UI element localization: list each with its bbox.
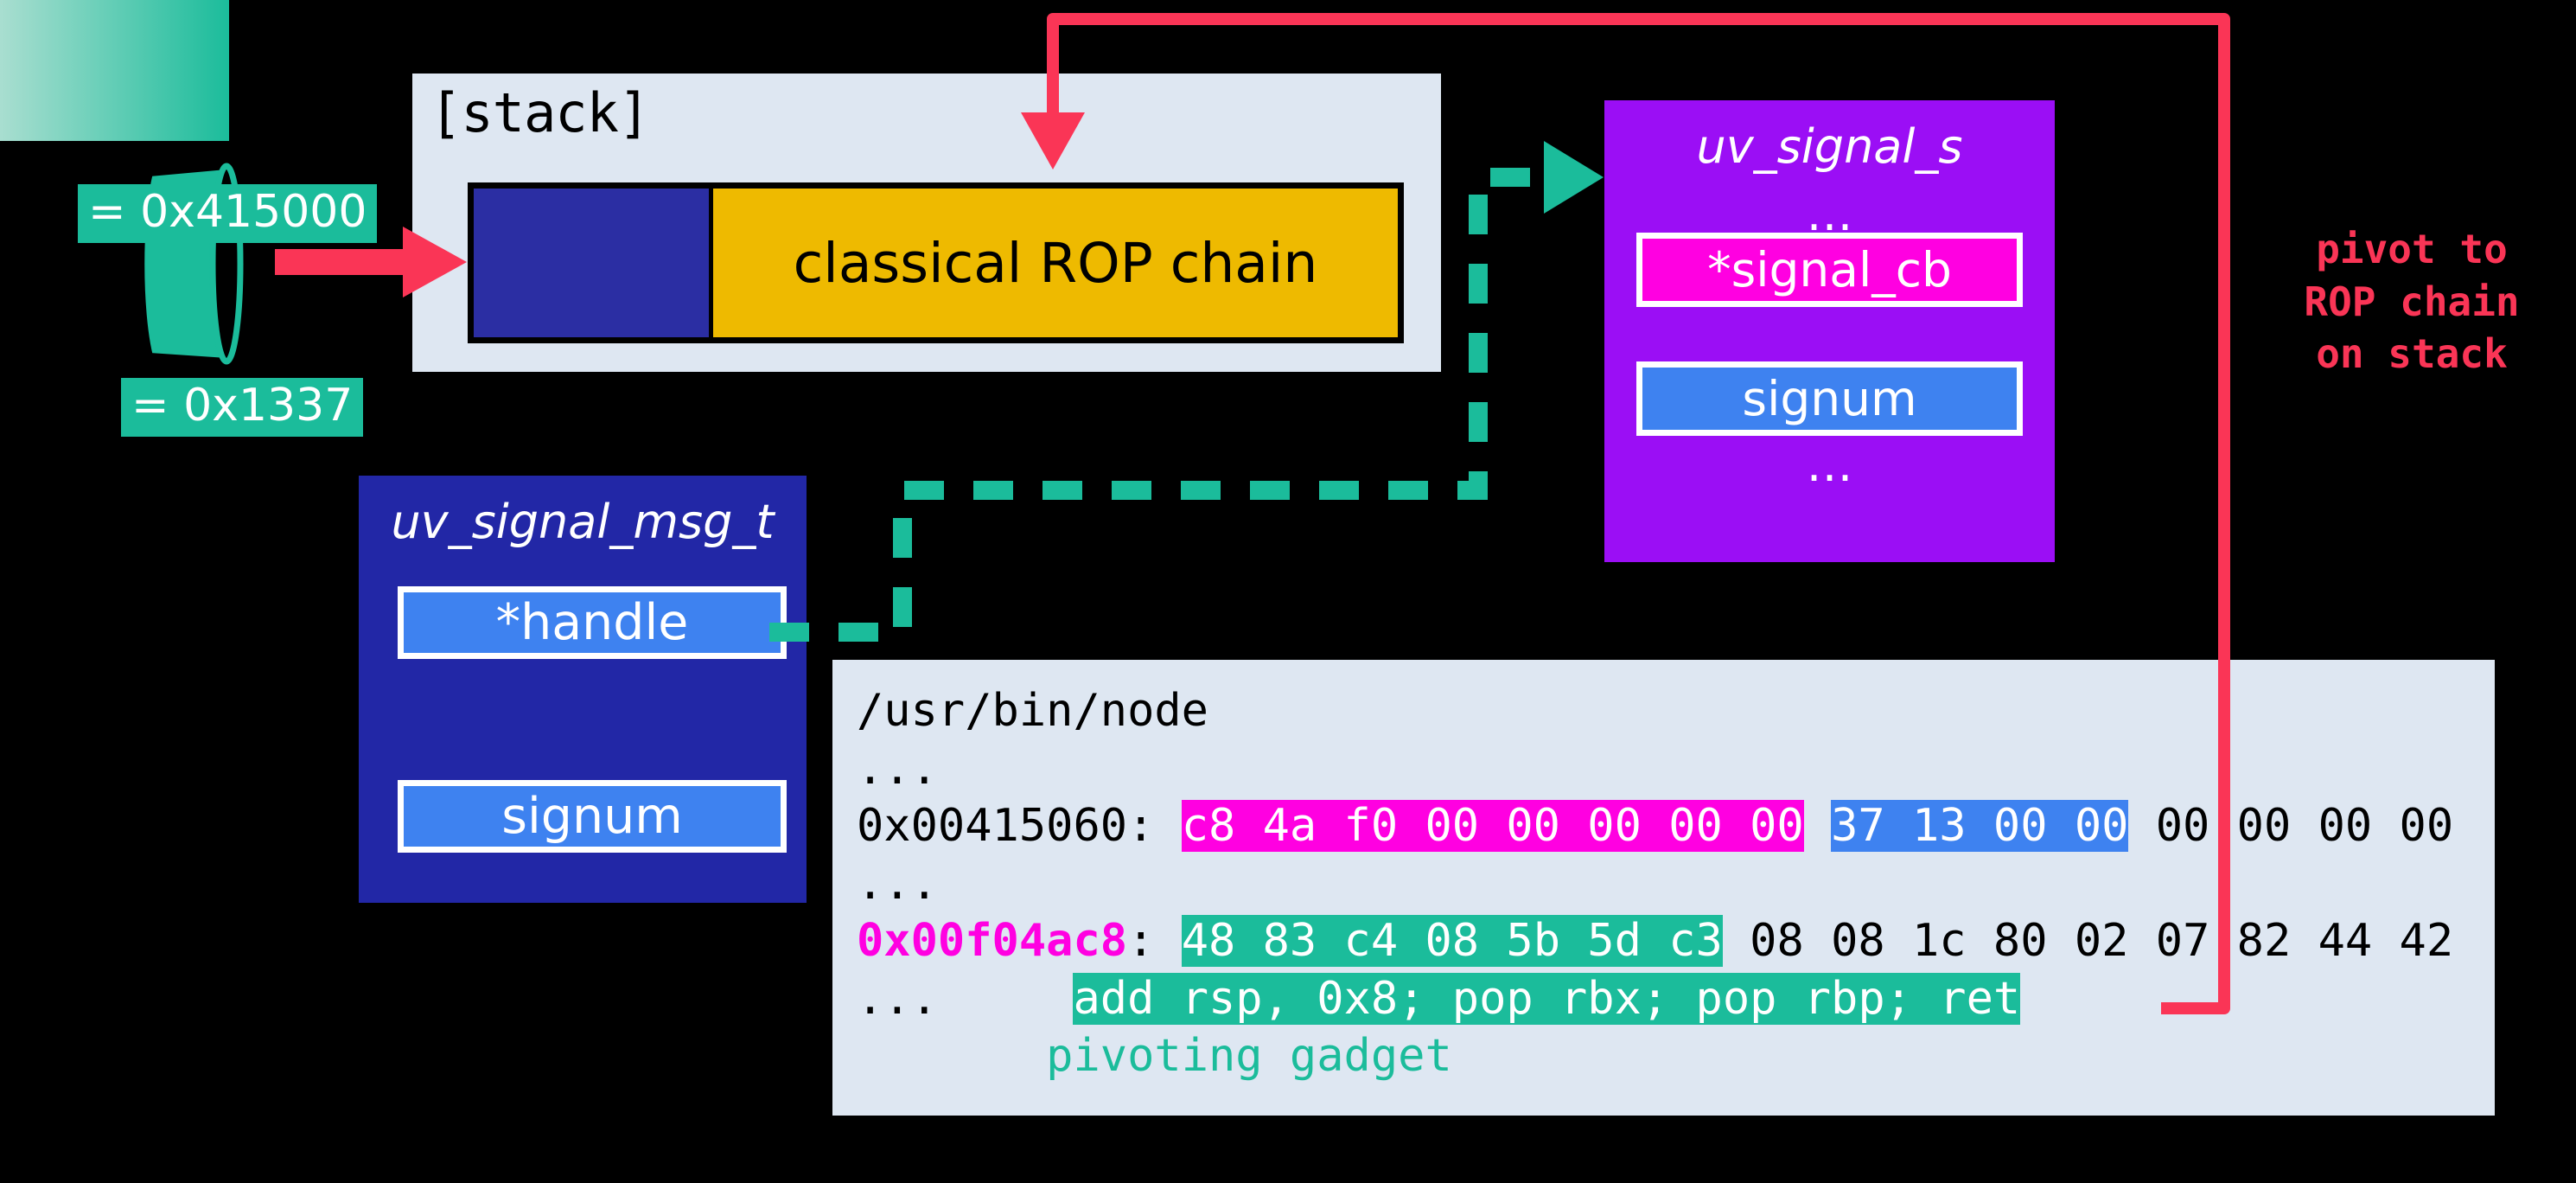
hexdump-ellipsis-1: ...: [857, 740, 2495, 798]
hexdump-panel: /usr/bin/node ... 0x00415060: c8 4a f0 0…: [832, 660, 2495, 1116]
stack-cells: classical ROP chain: [468, 182, 1404, 343]
hexdump-row-2-bytes-plain: 08 08 1c 80 02 07 82 44 42: [1750, 915, 2453, 967]
hexdump-ellipsis-3: ...: [857, 973, 938, 1025]
hexdump-ellipsis-2: ...: [857, 855, 2495, 913]
field-signal-cb: *signal_cb: [1636, 233, 2023, 307]
diagram-canvas: [stack] classical ROP chain uv_signal_s …: [0, 0, 2576, 1183]
handle-value-tag: = 0x415000: [78, 184, 377, 243]
hexdump-content: /usr/bin/node ... 0x00415060: c8 4a f0 0…: [857, 682, 2495, 1116]
field-signum-struct: signum: [1636, 361, 2023, 436]
hexdump-row-1-bytes-plain: 00 00 00 00: [2156, 800, 2453, 852]
field-signum-msg: signum: [398, 780, 787, 853]
hexdump-row-2: 0x00f04ac8: 48 83 c4 08 5b 5d c3 08 08 1…: [857, 912, 2495, 970]
hexdump-row-1-bytes-signum: 37 13 00 00: [1831, 800, 2128, 852]
uv-signal-s-ellipsis-bottom: …: [1604, 438, 2055, 492]
pivot-annotation: pivot to ROP chain on stack: [2265, 223, 2559, 380]
uv-signal-msg-t-title: uv_signal_msg_t: [359, 495, 807, 549]
rop-chain-label: classical ROP chain: [794, 232, 1318, 295]
hexdump-row-2-address: 0x00f04ac8: [857, 915, 1127, 967]
signum-value-tag: = 0x1337: [121, 378, 363, 437]
socket-stream-icon: [0, 0, 229, 141]
gadget-disassembly: add rsp, 0x8; pop rbx; pop rbp; ret: [1073, 973, 2020, 1025]
hexdump-row-1-address: 0x00415060:: [857, 800, 1154, 852]
hexdump-binary-path: /usr/bin/node: [857, 682, 2495, 740]
field-handle: *handle: [398, 586, 787, 659]
stack-cell-rop-chain: classical ROP chain: [713, 189, 1398, 337]
uv-signal-msg-t-struct: uv_signal_msg_t *handle signum: [359, 476, 807, 903]
uv-signal-s-struct: uv_signal_s … *signal_cb signum …: [1604, 100, 2055, 562]
hexdump-row-3: ... add rsp, 0x8; pop rbx; pop rbp; ret: [857, 970, 2495, 1028]
stack-cell-saved-area: [474, 189, 713, 337]
uv-signal-s-title: uv_signal_s: [1604, 119, 2055, 174]
gadget-caption: pivoting gadget: [1046, 1030, 1452, 1082]
hexdump-row-4: pivoting gadget: [857, 1027, 2495, 1085]
hexdump-row-2-colon: :: [1127, 915, 1154, 967]
hexdump-row-1: 0x00415060: c8 4a f0 00 00 00 00 00 37 1…: [857, 797, 2495, 855]
hexdump-row-2-bytes-gadget: 48 83 c4 08 5b 5d c3: [1182, 915, 1723, 967]
stack-label: [stack]: [430, 82, 649, 144]
hexdump-row-1-bytes-callback: c8 4a f0 00 00 00 00 00: [1182, 800, 1804, 852]
